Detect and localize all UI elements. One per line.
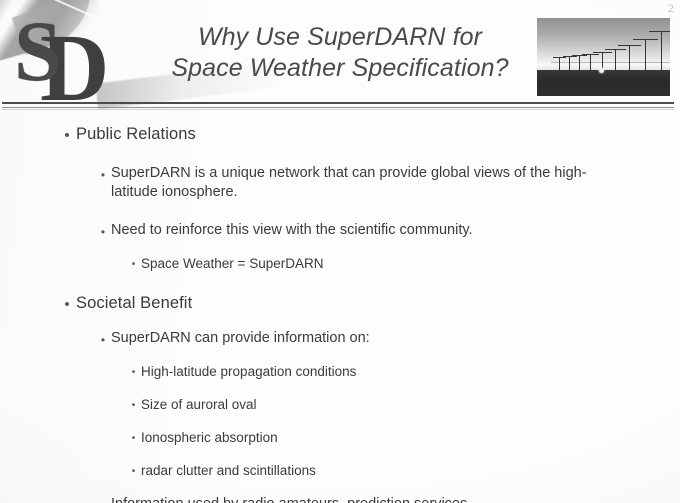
- bullet-icon: •: [126, 395, 141, 411]
- antenna-mast: [559, 58, 560, 72]
- bullet-icon: •: [95, 163, 111, 181]
- slide-body-outline: • Public Relations • SuperDARN is a uniq…: [0, 122, 680, 503]
- antenna-crossbar: [633, 39, 658, 40]
- antenna-mast: [645, 40, 646, 72]
- spacer: [0, 318, 680, 328]
- bullet-icon: •: [126, 428, 141, 444]
- photo-light-flare: [599, 68, 604, 73]
- outline-item-text: Societal Benefit: [76, 291, 680, 314]
- outline-item-level2: • SuperDARN is a unique network that can…: [95, 163, 680, 202]
- bullet-icon: •: [126, 254, 141, 270]
- antenna-crossbar: [572, 55, 587, 56]
- antenna-mast: [590, 55, 591, 72]
- antenna-crossbar: [582, 54, 599, 55]
- antenna-crossbar: [553, 57, 566, 58]
- outline-item-text: Ionospheric absorption: [141, 428, 680, 447]
- spacer: [0, 385, 680, 395]
- spacer: [0, 277, 680, 291]
- outline-item-level3: • Size of auroral oval: [126, 395, 680, 414]
- outline-item-level2: • Information used by radio amateurs, pr…: [95, 494, 680, 503]
- bullet-icon: •: [95, 328, 111, 346]
- outline-item-text: Space Weather = SuperDARN: [141, 254, 680, 273]
- outline-item-text: Size of auroral oval: [141, 395, 680, 414]
- radar-antenna-array-photo: [537, 18, 670, 96]
- antenna-crossbar: [593, 52, 612, 53]
- antenna-mast: [569, 57, 570, 72]
- antenna-mast: [579, 56, 580, 72]
- antenna-crossbar: [563, 56, 577, 57]
- bullet-icon: •: [58, 122, 76, 143]
- outline-item-text: SuperDARN is a unique network that can p…: [111, 163, 611, 202]
- spacer: [0, 451, 680, 461]
- outline-item-level3: • High-latitude propagation conditions: [126, 362, 680, 381]
- bullet-icon: •: [126, 461, 141, 477]
- spacer: [0, 149, 680, 163]
- outline-item-level1: • Public Relations: [58, 122, 680, 145]
- outline-item-text: Need to reinforce this view with the sci…: [111, 220, 611, 240]
- antenna-mast: [661, 32, 662, 72]
- antenna-crossbar: [605, 49, 626, 50]
- antenna-mast: [615, 50, 616, 72]
- bullet-icon: •: [95, 494, 111, 503]
- slide-title: Why Use SuperDARN for Space Weather Spec…: [150, 22, 530, 84]
- superdarn-sd-monogram: D S S: [12, 14, 108, 104]
- outline-item-level3: • radar clutter and scintillations: [126, 461, 680, 480]
- bullet-icon: •: [58, 291, 76, 312]
- spacer: [0, 352, 680, 362]
- photo-horizon-line: [551, 62, 670, 63]
- antenna-mast: [629, 46, 630, 72]
- outline-item-level3: • Space Weather = SuperDARN: [126, 254, 680, 273]
- outline-item-text: High-latitude propagation conditions: [141, 362, 680, 381]
- spacer: [0, 244, 680, 254]
- bullet-icon: •: [126, 362, 141, 378]
- outline-item-text: Information used by radio amateurs, pred…: [111, 494, 611, 503]
- photo-ground: [537, 70, 670, 96]
- outline-item-level2: • Need to reinforce this view with the s…: [95, 220, 680, 240]
- spacer: [0, 484, 680, 494]
- outline-item-level2: • SuperDARN can provide information on:: [95, 328, 680, 348]
- outline-item-level3: • Ionospheric absorption: [126, 428, 680, 447]
- outline-item-level1: • Societal Benefit: [58, 291, 680, 314]
- bullet-icon: •: [95, 220, 111, 238]
- slide-header: D S S Why Use SuperDARN for Space Weathe…: [0, 0, 680, 112]
- slide-canvas: D S S Why Use SuperDARN for Space Weathe…: [0, 0, 680, 503]
- antenna-crossbar: [649, 31, 670, 32]
- outline-item-text: Public Relations: [76, 122, 680, 145]
- spacer: [0, 418, 680, 428]
- spacer: [0, 206, 680, 220]
- outline-item-text: SuperDARN can provide information on:: [111, 328, 611, 348]
- page-number: 2: [668, 3, 674, 15]
- antenna-crossbar: [618, 45, 641, 46]
- slide-title-line-2: Space Weather Specification?: [150, 53, 530, 84]
- outline-item-text: radar clutter and scintillations: [141, 461, 680, 480]
- slide-title-line-1: Why Use SuperDARN for: [150, 22, 530, 53]
